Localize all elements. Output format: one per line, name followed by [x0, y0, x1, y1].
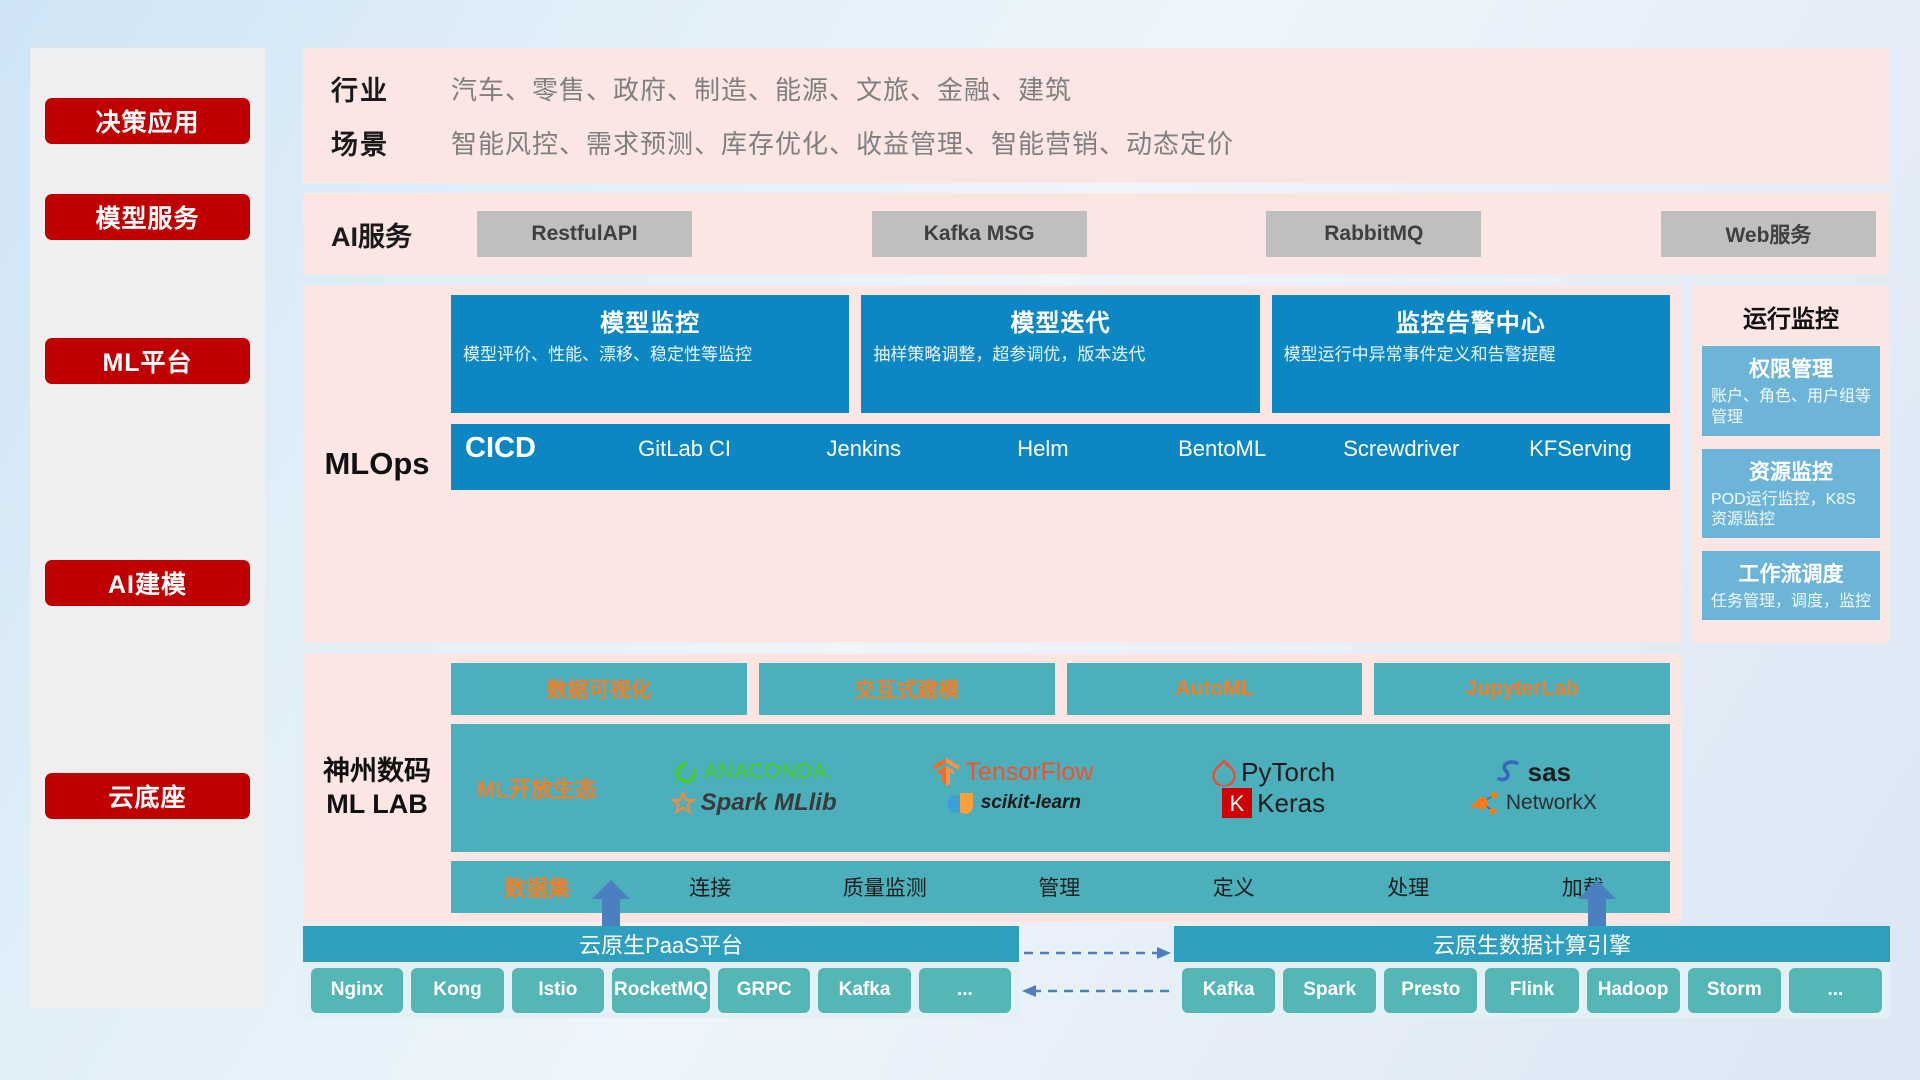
mlops-content: 模型监控 模型评价、性能、漂移、稳定性等监控 模型迭代 抽样策略调整，超参调优，…: [451, 295, 1670, 633]
sidebar-item-2[interactable]: ML平台: [45, 338, 250, 384]
monitor-card-desc: POD运行监控，K8S资源监控: [1711, 490, 1871, 532]
keras-logo: K Keras: [1222, 788, 1325, 819]
engine-chip[interactable]: ...: [1789, 968, 1882, 1013]
cicd-tools: GitLab CI Jenkins Helm BentoML Screwdriv…: [595, 432, 1670, 461]
modeling-label-line1: 神州数码: [323, 755, 431, 788]
monitor-card-desc: 任务管理，调度，监控: [1711, 592, 1871, 613]
layer-rail: 决策应用 模型服务 ML平台 AI建模 云底座: [30, 48, 265, 1008]
paas-chip[interactable]: Istio: [512, 968, 604, 1013]
paas-block: 云原生PaaS平台 Nginx Kong Istio RocketMQ GRPC…: [303, 878, 1019, 1008]
ai-chip[interactable]: Kafka MSG: [872, 211, 1087, 257]
ai-service-label: AI服务: [331, 215, 451, 254]
networkx-label: NetworkX: [1506, 791, 1597, 815]
data-engine-chips: Kafka Spark Presto Flink Hadoop Storm ..…: [1174, 962, 1890, 1018]
cicd-label: CICD: [465, 432, 595, 465]
engine-chip[interactable]: Flink: [1485, 968, 1578, 1013]
spark-label: Spark MLlib: [701, 789, 837, 817]
data-engine-block: 云原生数据计算引擎 Kafka Spark Presto Flink Hadoo…: [1174, 878, 1890, 1008]
ai-chip[interactable]: RabbitMQ: [1266, 211, 1481, 257]
monitor-card-title: 工作流调度: [1711, 558, 1871, 588]
scenario-label: 场景: [331, 123, 451, 162]
scenario-row: 场景 智能风控、需求预测、库存优化、收益管理、智能营销、动态定价: [331, 118, 1890, 166]
paas-chip[interactable]: Kong: [411, 968, 503, 1013]
monitor-card-title: 资源监控: [1711, 456, 1871, 486]
engine-chip[interactable]: Presto: [1384, 968, 1477, 1013]
ai-chip[interactable]: Web服务: [1661, 211, 1876, 257]
pytorch-logo: PyTorch: [1212, 757, 1335, 788]
paas-chip[interactable]: RocketMQ: [612, 968, 710, 1013]
sidebar-item-1[interactable]: 模型服务: [45, 194, 250, 240]
data-engine-title: 云原生数据计算引擎: [1174, 926, 1890, 962]
paas-chips: Nginx Kong Istio RocketMQ GRPC Kafka ...: [303, 962, 1019, 1018]
sidebar-item-label: 云底座: [108, 778, 186, 814]
industry-values: 汽车、零售、政府、制造、能源、文旅、金融、建筑: [451, 70, 1072, 107]
sidebar-item-0[interactable]: 决策应用: [45, 98, 250, 144]
mlops-row: MLOps 模型监控 模型评价、性能、漂移、稳定性等监控 模型迭代 抽样策略调整…: [303, 285, 1890, 643]
scikit-learn-logo: scikit-learn: [946, 788, 1081, 818]
sidebar-item-label: 模型服务: [95, 199, 199, 235]
cicd-tool[interactable]: Helm: [953, 432, 1132, 461]
sidebar-item-label: 决策应用: [95, 103, 199, 139]
cicd-tool[interactable]: KFServing: [1491, 432, 1670, 461]
diagram-canvas: 决策应用 模型服务 ML平台 AI建模 云底座 行业 汽车、零售、政府、制造、能…: [0, 0, 1920, 1080]
cicd-tool[interactable]: Jenkins: [774, 432, 953, 461]
paas-chip[interactable]: ...: [919, 968, 1011, 1013]
mlops-card-title: 监控告警中心: [1284, 303, 1658, 338]
paas-title: 云原生PaaS平台: [303, 926, 1019, 962]
interconnect-arrows: [1019, 878, 1174, 1008]
cicd-tool[interactable]: BentoML: [1133, 432, 1312, 461]
runtime-monitor-title: 运行监控: [1702, 299, 1880, 334]
anaconda-logo: ANACONDA.: [673, 759, 833, 785]
mlops-card[interactable]: 监控告警中心 模型运行中异常事件定义和告警提醒: [1272, 295, 1670, 413]
mlops-card-title: 模型迭代: [873, 303, 1247, 338]
modeling-label-line2: ML LAB: [326, 788, 428, 821]
tool-chip[interactable]: 数据可视化: [451, 663, 747, 715]
tensorflow-label: TensorFlow: [965, 758, 1093, 787]
modeling-tool-chips: 数据可视化 交互式建模 AutoML JupyterLab: [451, 663, 1670, 715]
monitor-card[interactable]: 资源监控 POD运行监控，K8S资源监控: [1702, 449, 1880, 539]
sidebar-item-label: ML平台: [102, 343, 192, 379]
main-stack: 行业 汽车、零售、政府、制造、能源、文旅、金融、建筑 场景 智能风控、需求预测、…: [303, 48, 1890, 923]
modeling-label: 神州数码 ML LAB: [303, 663, 451, 913]
pytorch-label: PyTorch: [1241, 757, 1335, 788]
mlops-card-desc: 模型评价、性能、漂移、稳定性等监控: [463, 344, 837, 367]
mlops-cards: 模型监控 模型评价、性能、漂移、稳定性等监控 模型迭代 抽样策略调整，超参调优，…: [451, 295, 1670, 413]
industry-label: 行业: [331, 69, 451, 108]
keras-label: Keras: [1257, 788, 1325, 819]
engine-chip[interactable]: Kafka: [1182, 968, 1275, 1013]
sas-logo: sas: [1497, 757, 1571, 788]
sidebar-item-label: AI建模: [108, 565, 187, 601]
ai-chip[interactable]: RestfulAPI: [477, 211, 692, 257]
scikit-learn-label: scikit-learn: [981, 792, 1081, 814]
runtime-monitor-panel: 运行监控 权限管理 账户、角色、用户组等管理 资源监控 POD运行监控，K8S资…: [1692, 285, 1890, 643]
sidebar-item-3[interactable]: AI建模: [45, 560, 250, 606]
cicd-tool[interactable]: GitLab CI: [595, 432, 774, 461]
modeling-content: 数据可视化 交互式建模 AutoML JupyterLab ML开放生态 ANA…: [451, 663, 1670, 913]
engine-chip[interactable]: Spark: [1283, 968, 1376, 1013]
monitor-card[interactable]: 权限管理 账户、角色、用户组等管理: [1702, 346, 1880, 436]
mlops-label: MLOps: [303, 295, 451, 633]
ml-ecosystem-logos: ANACONDA. TensorFlow PyTorch: [623, 757, 1670, 819]
scenario-values: 智能风控、需求预测、库存优化、收益管理、智能营销、动态定价: [451, 124, 1234, 161]
spark-mllib-logo: Spark MLlib: [670, 789, 837, 817]
anaconda-label: ANACONDA.: [704, 760, 833, 784]
industry-row: 行业 汽车、零售、政府、制造、能源、文旅、金融、建筑: [331, 64, 1890, 112]
mlops-card-title: 模型监控: [463, 303, 837, 338]
tool-chip[interactable]: JupyterLab: [1374, 663, 1670, 715]
cicd-bar: CICD GitLab CI Jenkins Helm BentoML Scre…: [451, 424, 1670, 490]
engine-chip[interactable]: Hadoop: [1587, 968, 1680, 1013]
cloud-foundation-row: 云原生PaaS平台 Nginx Kong Istio RocketMQ GRPC…: [303, 878, 1890, 1008]
tool-chip[interactable]: AutoML: [1067, 663, 1363, 715]
ai-service-band: AI服务 RestfulAPI Kafka MSG RabbitMQ Web服务: [303, 193, 1890, 275]
mlops-card[interactable]: 模型迭代 抽样策略调整，超参调优，版本迭代: [861, 295, 1259, 413]
monitor-card-title: 权限管理: [1711, 353, 1871, 383]
sidebar-item-4[interactable]: 云底座: [45, 773, 250, 819]
up-arrow-icon: [588, 880, 634, 926]
tensorflow-logo: TensorFlow: [933, 757, 1093, 787]
monitor-card-desc: 账户、角色、用户组等管理: [1711, 387, 1871, 429]
sas-label: sas: [1528, 757, 1571, 788]
networkx-logo: NetworkX: [1471, 789, 1597, 817]
engine-chip[interactable]: Storm: [1688, 968, 1781, 1013]
paas-chip[interactable]: GRPC: [718, 968, 810, 1013]
ai-service-chips: RestfulAPI Kafka MSG RabbitMQ Web服务: [451, 211, 1890, 257]
industry-band: 行业 汽车、零售、政府、制造、能源、文旅、金融、建筑 场景 智能风控、需求预测、…: [303, 48, 1890, 183]
mlops-card-desc: 抽样策略调整，超参调优，版本迭代: [873, 344, 1247, 367]
ml-ecosystem-label: ML开放生态: [451, 772, 623, 804]
svg-text:K: K: [1230, 791, 1245, 816]
up-arrow-icon: [1574, 880, 1620, 926]
mlops-card[interactable]: 模型监控 模型评价、性能、漂移、稳定性等监控: [451, 295, 849, 413]
monitor-card[interactable]: 工作流调度 任务管理，调度，监控: [1702, 551, 1880, 620]
tool-chip[interactable]: 交互式建模: [759, 663, 1055, 715]
paas-chip[interactable]: Nginx: [311, 968, 403, 1013]
ml-ecosystem-row: ML开放生态 ANACONDA. TensorFlow: [451, 724, 1670, 852]
cicd-tool[interactable]: Screwdriver: [1312, 432, 1491, 461]
mlops-card-desc: 模型运行中异常事件定义和告警提醒: [1284, 344, 1658, 367]
mlops-band: MLOps 模型监控 模型评价、性能、漂移、稳定性等监控 模型迭代 抽样策略调整…: [303, 285, 1682, 643]
paas-chip[interactable]: Kafka: [818, 968, 910, 1013]
